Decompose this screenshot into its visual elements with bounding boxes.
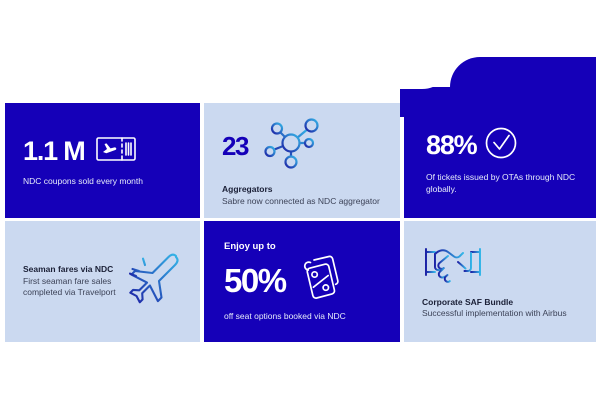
network-hub-icon — [262, 114, 322, 177]
airplane-icon — [126, 251, 184, 312]
stat-value: 88% — [426, 132, 476, 159]
stat-caption: off seat options booked via NDC — [224, 311, 384, 322]
stat-caption: Corporate SAF Bundle Successful implemen… — [422, 297, 567, 320]
boarding-pass-icon — [95, 134, 137, 169]
infographic-canvas: 1.1 M NDC coupons sold every month — [0, 0, 600, 400]
stat-tile-corporate-saf: Corporate SAF Bundle Successful implemen… — [404, 221, 596, 342]
stat-tile-ota-tickets: 88% Of tickets issued by OTAs through ND… — [404, 103, 596, 218]
stat-caption: Seaman fares via NDC First seaman fare s… — [23, 264, 118, 298]
stat-caption-text: First seaman fare sales completed via Tr… — [23, 276, 116, 297]
price-tags-icon — [296, 254, 348, 307]
stat-tile-seaman-fares: Seaman fares via NDC First seaman fare s… — [5, 221, 200, 342]
stat-caption: NDC coupons sold every month — [23, 176, 184, 187]
stat-value: 23 — [222, 133, 248, 159]
stat-caption: Aggregators Sabre now connected as NDC a… — [222, 184, 384, 207]
check-circle-icon — [484, 126, 518, 165]
stat-caption: Of tickets issued by OTAs through NDC gl… — [426, 172, 580, 195]
stat-lead: Aggregators — [222, 184, 384, 195]
stat-lead: Corporate SAF Bundle — [422, 297, 567, 308]
stat-tile-seat-discount: Enjoy up to 50% off seat o — [204, 221, 400, 342]
top-right-panel-rounded-mask — [400, 57, 452, 89]
stat-tile-ndc-coupons: 1.1 M NDC coupons sold every month — [5, 103, 200, 218]
stat-caption-text: Sabre now connected as NDC aggregator — [222, 196, 380, 206]
stat-lead: Seaman fares via NDC — [23, 264, 118, 275]
stat-tile-aggregators: 23 — [204, 103, 400, 218]
handshake-icon — [422, 244, 484, 289]
stats-grid: 1.1 M NDC coupons sold every month — [5, 103, 596, 342]
stat-value: 1.1 M — [23, 138, 85, 165]
stat-caption-text: Successful implementation with Airbus — [422, 308, 567, 318]
stat-eyebrow: Enjoy up to — [224, 241, 384, 252]
stat-value: 50% — [224, 264, 286, 297]
